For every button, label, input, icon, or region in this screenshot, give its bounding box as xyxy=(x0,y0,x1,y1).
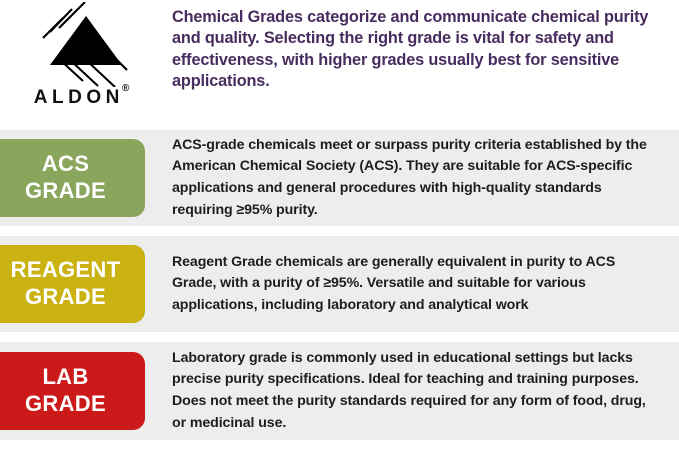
registered-mark: ® xyxy=(122,84,129,94)
badge-line-1: ACS xyxy=(42,151,89,178)
grade-row: REAGENT GRADE Reagent Grade chemicals ar… xyxy=(0,236,679,332)
header: ALDON ® Chemical Grades categorize and c… xyxy=(0,0,679,130)
badge-line-2: GRADE xyxy=(25,178,106,205)
badge-line-2: GRADE xyxy=(25,391,106,418)
header-intro-text: Chemical Grades categorize and communica… xyxy=(165,0,679,92)
badge-line-2: GRADE xyxy=(25,284,106,311)
brand-block: ALDON ® xyxy=(0,0,165,107)
aldon-triangle-logo-icon xyxy=(23,2,143,87)
grade-row: ACS GRADE ACS-grade chemicals meet or su… xyxy=(0,130,679,226)
grades-list: ACS GRADE ACS-grade chemicals meet or su… xyxy=(0,130,679,440)
grade-description: Reagent Grade chemicals are generally eq… xyxy=(165,252,679,317)
grade-badge-reagent: REAGENT GRADE xyxy=(0,245,145,323)
badge-cell: REAGENT GRADE xyxy=(0,236,165,332)
grade-row: LAB GRADE Laboratory grade is commonly u… xyxy=(0,342,679,440)
badge-line-1: REAGENT xyxy=(11,257,121,284)
grade-description: Laboratory grade is commonly used in edu… xyxy=(165,348,679,434)
badge-line-1: LAB xyxy=(42,364,88,391)
badge-cell: LAB GRADE xyxy=(0,342,165,440)
chemical-grades-infographic: ALDON ® Chemical Grades categorize and c… xyxy=(0,0,679,454)
brand-wordmark: ALDON ® xyxy=(34,88,131,107)
badge-cell: ACS GRADE xyxy=(0,130,165,226)
brand-name: ALDON xyxy=(34,88,124,107)
grade-description: ACS-grade chemicals meet or surpass puri… xyxy=(165,135,679,221)
grade-badge-acs: ACS GRADE xyxy=(0,139,145,217)
grade-badge-lab: LAB GRADE xyxy=(0,352,145,430)
